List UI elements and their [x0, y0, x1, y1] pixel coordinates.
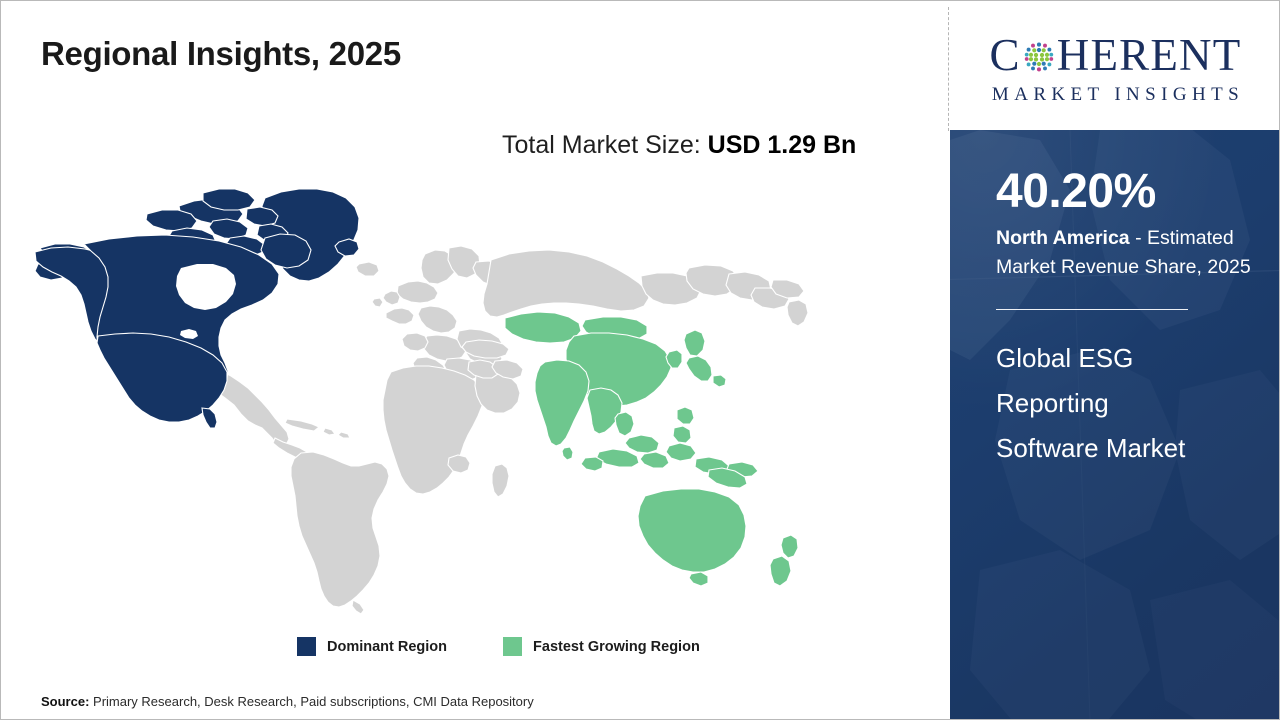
market-size-prefix: Total Market Size: [502, 131, 708, 159]
page-title: Regional Insights, 2025 [41, 35, 401, 73]
market-size-value: USD 1.29 Bn [708, 131, 857, 159]
legend-label-fastest-growing: Fastest Growing Region [533, 639, 700, 655]
logo-initial: C [990, 33, 1021, 78]
vertical-dashed-divider [948, 7, 949, 131]
legend-item-fastest-growing: Fastest Growing Region [503, 637, 700, 656]
logo-subtitle: MARKET INSIGHTS [987, 84, 1244, 106]
panel-divider [996, 309, 1188, 311]
world-map-svg [29, 176, 829, 616]
legend-item-dominant: Dominant Region [297, 637, 447, 656]
stat-panel: 40.20% North America - Estimated Market … [950, 130, 1280, 720]
world-map-container [29, 176, 829, 616]
logo-wordmark: C [990, 32, 1242, 80]
map-region-north-america [35, 189, 359, 428]
stat-caption: North America - Estimated Market Revenue… [996, 224, 1255, 281]
map-region-asia-pacific [505, 312, 798, 586]
map-legend: Dominant Region Fastest Growing Region [297, 637, 700, 656]
source-note: Source: Primary Research, Desk Research,… [41, 694, 534, 709]
source-text: Primary Research, Desk Research, Paid su… [89, 694, 533, 709]
stat-panel-content: 40.20% North America - Estimated Market … [950, 130, 1280, 471]
map-pane: Regional Insights, 2025 Total Market Siz… [1, 1, 949, 720]
legend-label-dominant: Dominant Region [327, 639, 447, 655]
market-name: Global ESG Reporting Software Market [996, 336, 1216, 470]
stat-region-name: North America [996, 227, 1130, 249]
fastest-growing-region-swatch [503, 637, 522, 656]
stat-value: 40.20% [996, 167, 1255, 217]
dominant-region-swatch [297, 637, 316, 656]
total-market-size: Total Market Size: USD 1.29 Bn [502, 126, 902, 165]
logo-wordmark-text: HERENT [1057, 33, 1242, 78]
dotted-globe-icon [1022, 39, 1056, 73]
source-label: Source: [41, 694, 89, 709]
company-logo: C [950, 1, 1280, 130]
regional-insights-infographic: Regional Insights, 2025 Total Market Siz… [0, 0, 1280, 720]
